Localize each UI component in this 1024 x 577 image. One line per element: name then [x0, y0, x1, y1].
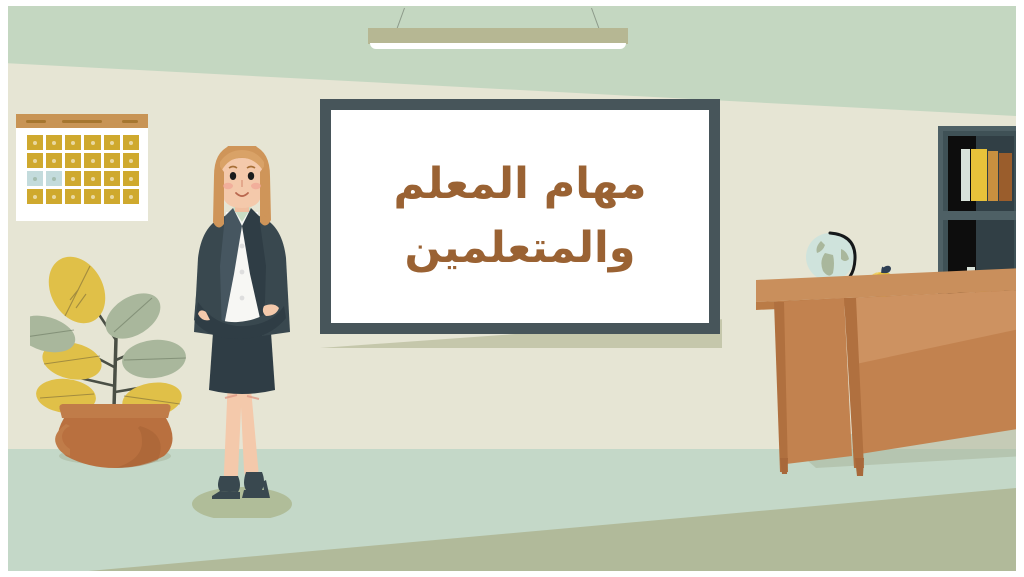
calendar-day-cell — [123, 171, 139, 186]
calendar-day-cell — [123, 153, 139, 168]
calendar-day-cell — [104, 171, 120, 186]
calendar-day-cell — [65, 171, 81, 186]
calendar-header-dash — [26, 120, 46, 123]
calendar-day-cell — [46, 171, 62, 186]
calendar-day-cell — [84, 189, 100, 204]
calendar-day-dot — [129, 141, 133, 145]
calendar-header-dash — [62, 120, 102, 123]
calendar-day-cell — [104, 153, 120, 168]
whiteboard-title-line-1: مهام المعلم — [394, 162, 647, 207]
calendar-day-cell — [65, 153, 81, 168]
calendar-day-dot — [91, 177, 95, 181]
calendar-day-cell — [65, 189, 81, 204]
calendar-day-dot — [71, 141, 75, 145]
whiteboard-title-line-2: والمتعلمين — [405, 226, 636, 271]
calendar-icon — [16, 114, 148, 221]
whiteboard-surface: مهام المعلم والمتعلمين — [331, 110, 709, 323]
calendar-day-cell — [46, 153, 62, 168]
calendar-day-cell — [84, 171, 100, 186]
calendar-day-cell — [27, 171, 43, 186]
light-body — [368, 28, 628, 44]
calendar-day-dot — [33, 195, 37, 199]
classroom-scene: مهام المعلم والمتعلمين — [0, 0, 1024, 577]
book — [971, 149, 987, 201]
calendar-header — [16, 114, 148, 128]
light-wire-left — [397, 8, 405, 29]
calendar-day-dot — [110, 159, 114, 163]
calendar-day-cell — [123, 135, 139, 150]
calendar-day-dot — [52, 195, 56, 199]
bookshelf-divider — [943, 211, 1016, 220]
calendar-day-cell — [27, 153, 43, 168]
calendar-day-cell — [84, 135, 100, 150]
calendar-day-cell — [27, 189, 43, 204]
light-wire-right — [591, 8, 599, 29]
calendar-grid — [27, 135, 139, 204]
potted-plant-icon — [30, 228, 200, 468]
whiteboard: مهام المعلم والمتعلمين — [320, 99, 720, 334]
calendar-day-dot — [71, 159, 75, 163]
calendar-day-dot — [52, 141, 56, 145]
book — [961, 149, 970, 201]
calendar-day-dot — [71, 195, 75, 199]
calendar-day-dot — [91, 195, 95, 199]
calendar-day-cell — [84, 153, 100, 168]
calendar-day-dot — [33, 177, 37, 181]
calendar-header-dash — [122, 120, 138, 123]
calendar-day-cell — [46, 135, 62, 150]
book — [988, 151, 998, 201]
bookshelf-top-shelf — [961, 145, 1013, 201]
calendar-day-cell — [65, 135, 81, 150]
calendar-day-dot — [33, 141, 37, 145]
calendar-day-dot — [110, 195, 114, 199]
teacher-character — [176, 146, 308, 518]
calendar-day-dot — [91, 141, 95, 145]
calendar-day-dot — [129, 195, 133, 199]
calendar-day-dot — [52, 177, 56, 181]
calendar-day-dot — [52, 159, 56, 163]
calendar-day-cell — [123, 189, 139, 204]
light-glow — [370, 43, 626, 49]
calendar-day-cell — [104, 135, 120, 150]
calendar-day-dot — [110, 177, 114, 181]
teacher-desk — [756, 268, 1016, 513]
calendar-day-cell — [104, 189, 120, 204]
book — [999, 153, 1012, 201]
calendar-day-dot — [33, 159, 37, 163]
ceiling-light-icon — [368, 8, 628, 54]
room: مهام المعلم والمتعلمين — [8, 6, 1016, 571]
calendar-day-dot — [129, 177, 133, 181]
calendar-day-cell — [27, 135, 43, 150]
calendar-day-dot — [129, 159, 133, 163]
calendar-day-cell — [46, 189, 62, 204]
calendar-day-dot — [110, 141, 114, 145]
calendar-day-dot — [91, 159, 95, 163]
calendar-day-dot — [71, 177, 75, 181]
